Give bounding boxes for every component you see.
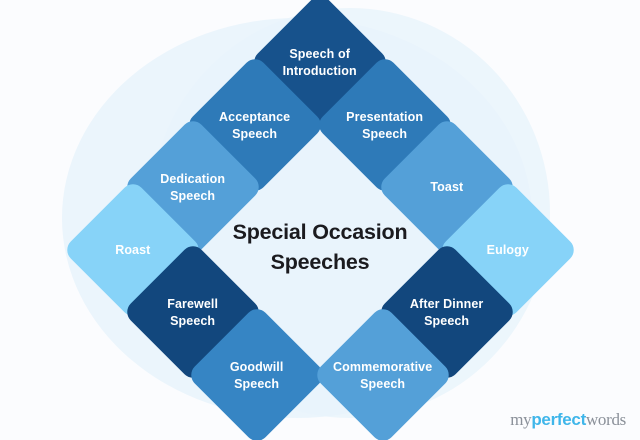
logo-text-words: words: [586, 410, 626, 430]
diamond-label: Speech of Introduction: [270, 46, 370, 79]
logo-text-my: my: [510, 410, 531, 430]
diamond-label: Toast: [397, 179, 497, 196]
diamond-label: After Dinner Speech: [397, 296, 497, 329]
diamond-label: Roast: [83, 242, 183, 259]
diamond-label: Eulogy: [458, 242, 558, 259]
brand-logo: myperfectwords: [510, 410, 626, 430]
diamond-label: Presentation Speech: [335, 109, 435, 142]
infographic-canvas: Speech of IntroductionAcceptance SpeechP…: [0, 0, 640, 440]
diamond-label: Commemorative Speech: [333, 359, 433, 392]
logo-text-perfect: perfect: [531, 410, 586, 430]
diamond-label: Goodwill Speech: [207, 359, 307, 392]
page-title: Special Occasion Speeches: [200, 218, 440, 277]
diamond-label: Dedication Speech: [143, 171, 243, 204]
diamond-label: Acceptance Speech: [205, 109, 305, 142]
diamond-label: Farewell Speech: [143, 296, 243, 329]
